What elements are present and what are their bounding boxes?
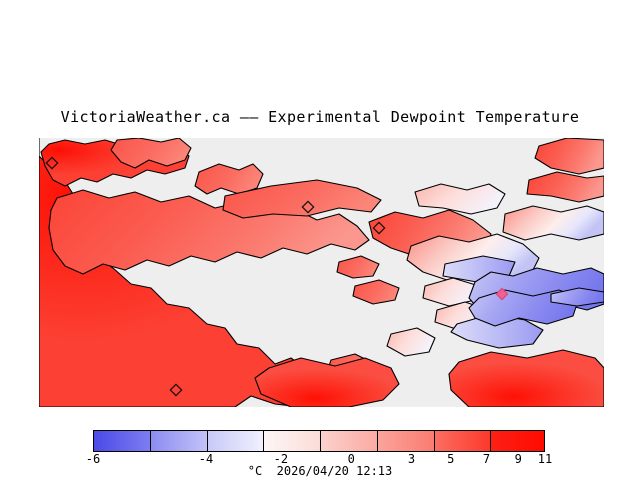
colorbar-segment-7 — [491, 431, 544, 451]
colorbar-segment-3 — [264, 431, 321, 451]
colorbar-segment-5 — [378, 431, 435, 451]
land-southeast-block — [449, 350, 604, 407]
colorbar-segment-4 — [321, 431, 378, 451]
dewpoint-temperature-map[interactable] — [39, 138, 604, 407]
colorbar-caption: °C 2026/04/20 12:13 — [0, 464, 640, 478]
colorbar-segment-1 — [151, 431, 208, 451]
colorbar-segment-6 — [435, 431, 491, 451]
colorbar[interactable] — [93, 430, 545, 452]
colorbar-segment-0 — [94, 431, 151, 451]
land-south-extension — [255, 358, 399, 407]
map-panel[interactable] — [39, 138, 604, 407]
colorbar-segment-2 — [208, 431, 265, 451]
land-northeast-shelf — [503, 206, 604, 240]
page-title: VictoriaWeather.ca —— Experimental Dewpo… — [0, 108, 640, 126]
